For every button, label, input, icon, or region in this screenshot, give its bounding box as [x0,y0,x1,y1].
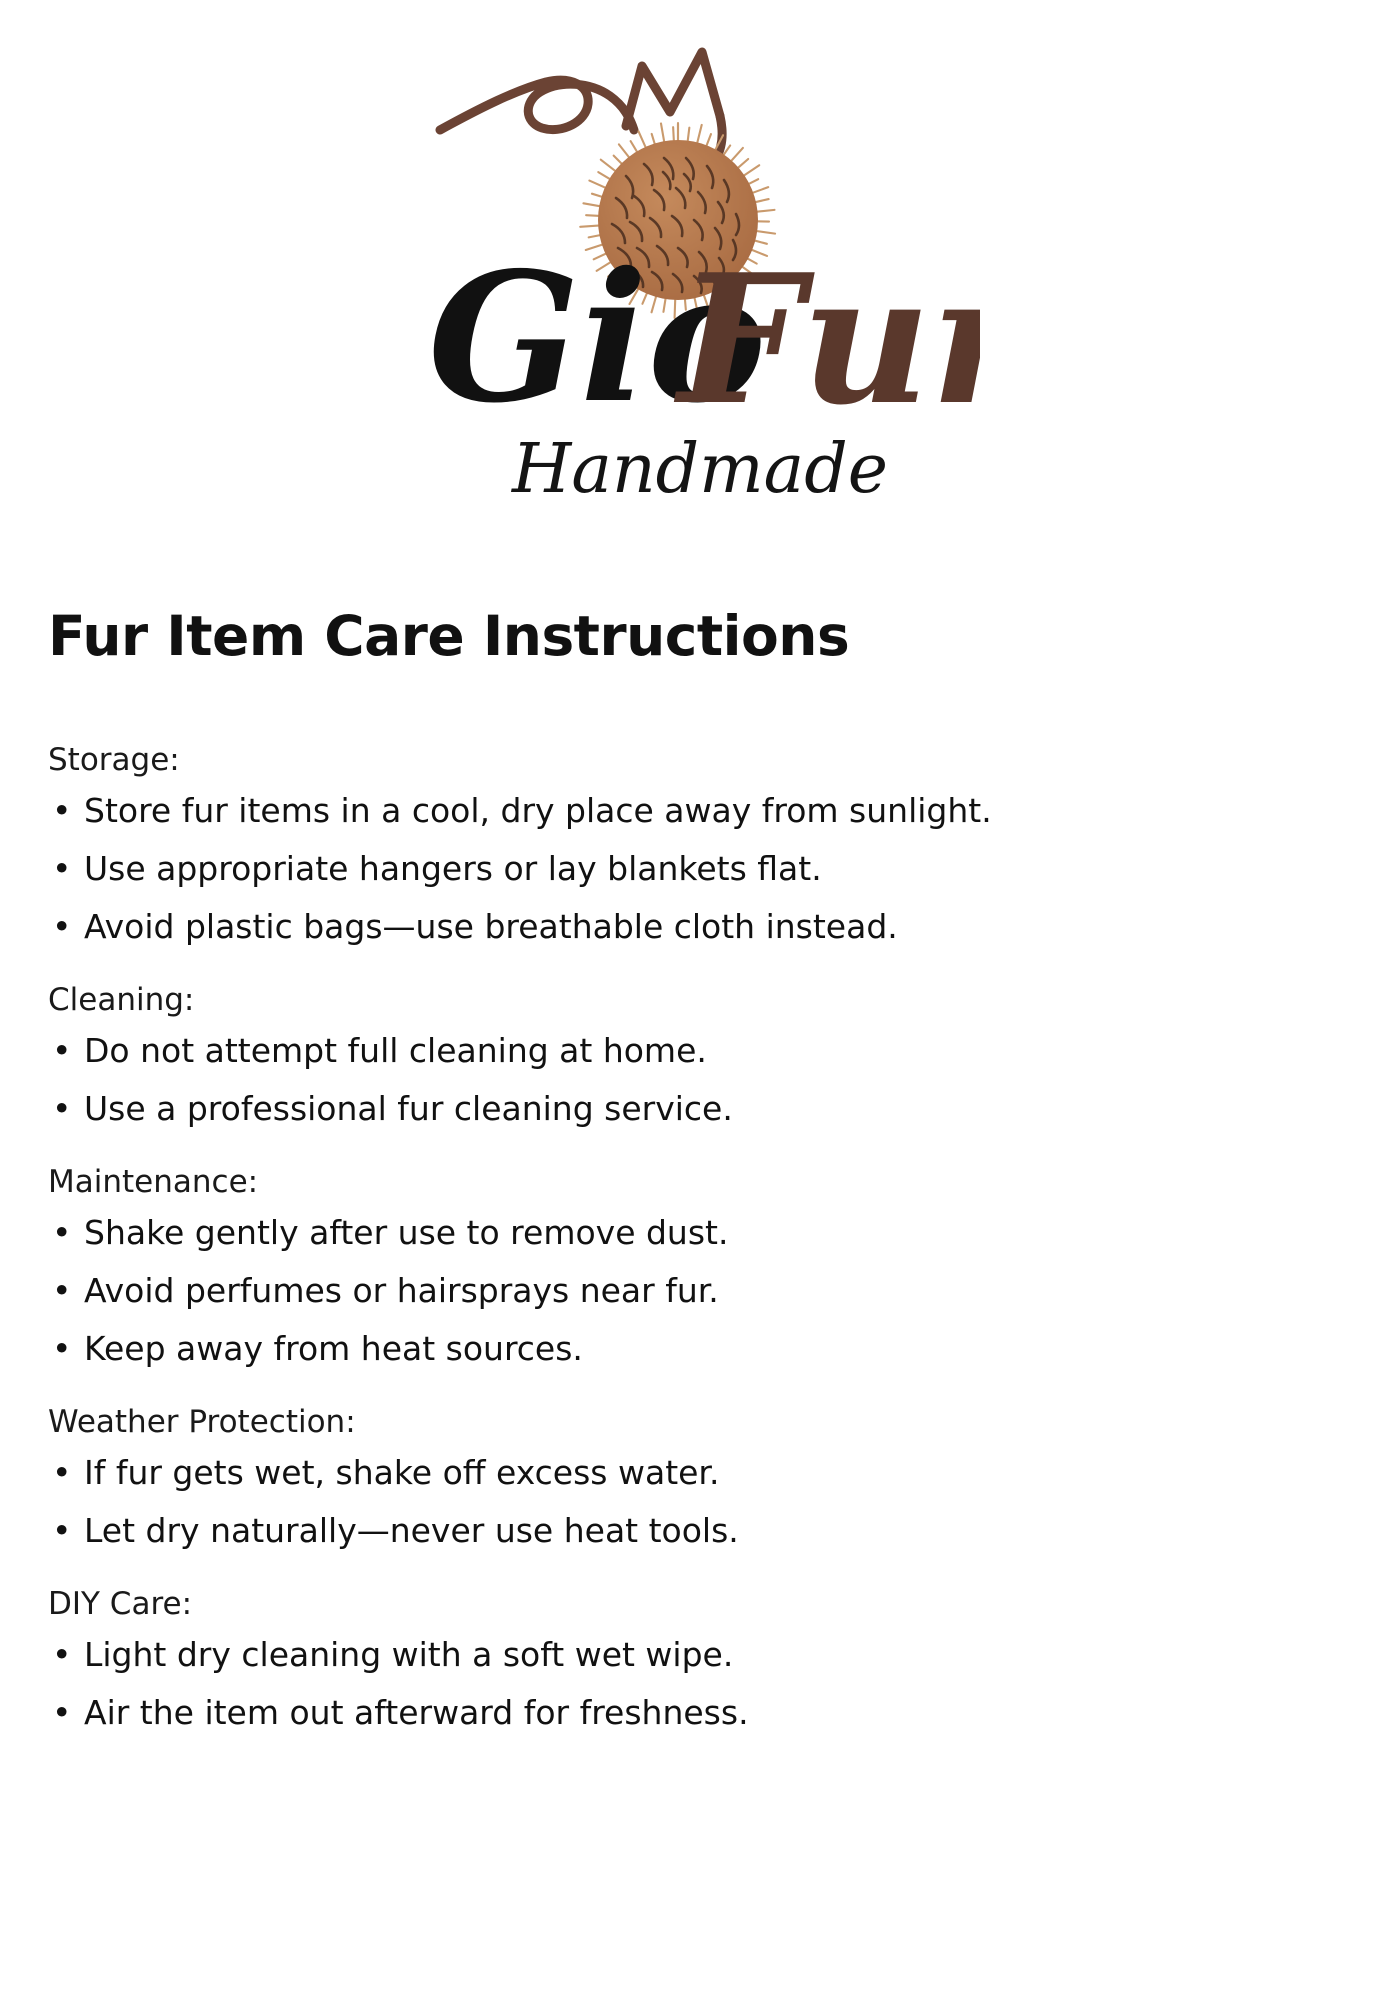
list-item: • Avoid plastic bags—use breathable clot… [48,910,1348,943]
brand-logo: Gio Furs Handmade [0,0,1400,560]
bullet-list: • If fur gets wet, shake off excess wate… [48,1456,1348,1547]
list-item-text: Keep away from heat sources. [84,1329,583,1368]
logo-svg: Gio Furs Handmade [420,30,980,550]
list-item-text: If fur gets wet, shake off excess water. [84,1453,719,1492]
list-item: • Let dry naturally—never use heat tools… [48,1514,1348,1547]
section-cleaning: Cleaning: • Do not attempt full cleaning… [48,985,1348,1125]
list-item-text: Let dry naturally—never use heat tools. [84,1511,739,1550]
list-item-text: Use appropriate hangers or lay blankets … [84,849,822,888]
brand-tagline-text: Handmade [510,430,888,509]
bullet-list: • Light dry cleaning with a soft wet wip… [48,1638,1348,1729]
logo-artwork: Gio Furs Handmade [420,30,980,550]
section-label: Cleaning: [48,985,1348,1016]
page-title: Fur Item Care Instructions [48,608,849,666]
bullet-glyph-icon: • [52,1456,71,1489]
wordmark-furs-text: Furs [673,235,980,444]
list-item-text: Store fur items in a cool, dry place awa… [84,791,992,830]
bullet-glyph-icon: • [52,1092,71,1125]
brand-tagline: Handmade [510,430,888,509]
section-maintenance: Maintenance: • Shake gently after use to… [48,1167,1348,1365]
bullet-glyph-icon: • [52,1638,71,1671]
list-item-text: Avoid plastic bags—use breathable cloth … [84,907,898,946]
list-item: • Use a professional fur cleaning servic… [48,1092,1348,1125]
list-item-text: Avoid perfumes or hairsprays near fur. [84,1271,719,1310]
bullet-glyph-icon: • [52,1696,71,1729]
list-item-text: Shake gently after use to remove dust. [84,1213,728,1252]
list-item: • Light dry cleaning with a soft wet wip… [48,1638,1348,1671]
list-item: • Keep away from heat sources. [48,1332,1348,1365]
section-storage: Storage: • Store fur items in a cool, dr… [48,745,1348,943]
bullet-list: • Store fur items in a cool, dry place a… [48,794,1348,943]
list-item-text: Air the item out afterward for freshness… [84,1693,749,1732]
bullet-glyph-icon: • [52,1332,71,1365]
bullet-glyph-icon: • [52,852,71,885]
list-item: • Avoid perfumes or hairsprays near fur. [48,1274,1348,1307]
list-item: • If fur gets wet, shake off excess wate… [48,1456,1348,1489]
bullet-glyph-icon: • [52,910,71,943]
wordmark-furs: Furs [673,235,980,444]
section-label: DIY Care: [48,1589,1348,1620]
bullet-glyph-icon: • [52,1514,71,1547]
bullet-list: • Do not attempt full cleaning at home. … [48,1034,1348,1125]
list-item: • Do not attempt full cleaning at home. [48,1034,1348,1067]
list-item-text: Use a professional fur cleaning service. [84,1089,733,1128]
section-label: Weather Protection: [48,1407,1348,1438]
section-label: Maintenance: [48,1167,1348,1198]
list-item-text: Do not attempt full cleaning at home. [84,1031,707,1070]
list-item: • Store fur items in a cool, dry place a… [48,794,1348,827]
bullet-glyph-icon: • [52,794,71,827]
bullet-glyph-icon: • [52,1274,71,1307]
section-label: Storage: [48,745,1348,776]
bullet-glyph-icon: • [52,1034,71,1067]
document-page: Gio Furs Handmade Fur Item Care Instruct… [0,0,1400,2000]
care-instructions-content: Storage: • Store fur items in a cool, dr… [48,745,1348,1729]
bullet-list: • Shake gently after use to remove dust.… [48,1216,1348,1365]
bullet-glyph-icon: • [52,1216,71,1249]
list-item: • Shake gently after use to remove dust. [48,1216,1348,1249]
section-weather-protection: Weather Protection: • If fur gets wet, s… [48,1407,1348,1547]
list-item: • Air the item out afterward for freshne… [48,1696,1348,1729]
section-diy-care: DIY Care: • Light dry cleaning with a so… [48,1589,1348,1729]
list-item: • Use appropriate hangers or lay blanket… [48,852,1348,885]
list-item-text: Light dry cleaning with a soft wet wipe. [84,1635,733,1674]
